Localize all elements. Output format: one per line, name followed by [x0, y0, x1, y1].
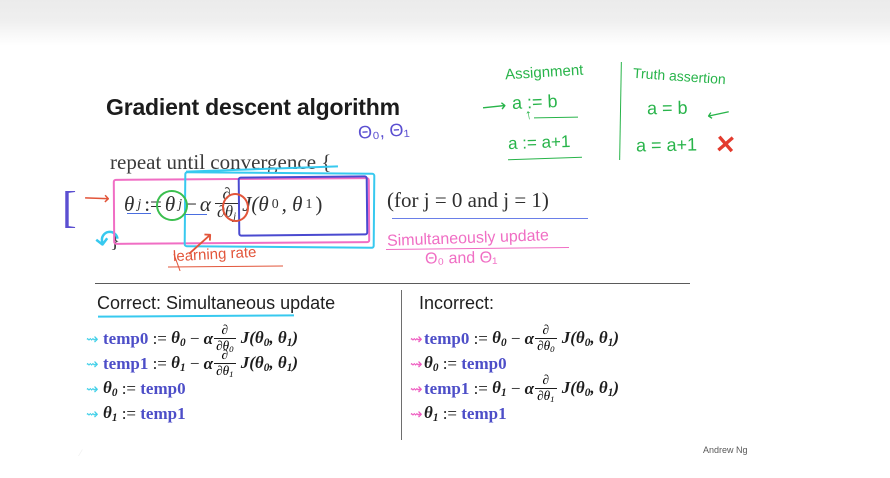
- green-underline-2: [508, 157, 582, 161]
- alpha-term: α: [204, 354, 213, 374]
- assign-operator: :=: [438, 354, 461, 374]
- page-artifact: ⁄: [80, 448, 82, 458]
- red-underline-learning-rate: [168, 265, 283, 267]
- partial-derivative-fraction: ∂∂θ1: [214, 348, 235, 378]
- left-bracket-annotation: [: [62, 182, 77, 233]
- assign-operator: :=: [117, 404, 140, 424]
- annotation-learning-rate: learning rate: [173, 244, 257, 265]
- theta-term: θ0: [171, 328, 185, 349]
- top-gradient-band: [0, 0, 890, 46]
- temp-variable: temp0: [424, 329, 469, 349]
- temp-variable: temp0: [103, 329, 148, 349]
- cost-function: J(θ0, θ1): [558, 328, 619, 349]
- equation-row: temp1 := θ1 − α∂∂θ1 J(θ0, θ1): [424, 376, 619, 401]
- minus-operator: −: [186, 354, 204, 374]
- equation-row: θ1 := temp1: [424, 401, 619, 426]
- partial-numerator: ∂: [220, 323, 231, 336]
- blue-underline-theta-rhs: [185, 214, 207, 215]
- partial-denominator: ∂θ1: [214, 363, 235, 379]
- alpha-term: α: [525, 379, 534, 399]
- cyan-marker-3: ⇝: [86, 380, 99, 398]
- equation-row: θ0 := temp0: [103, 376, 298, 401]
- cyan-marker-2: ⇝: [86, 355, 99, 373]
- magenta-marker-3: ⇝: [410, 380, 423, 398]
- temp-variable: temp1: [461, 404, 506, 424]
- temp-variable: temp0: [140, 379, 185, 399]
- theta-term: θ0: [103, 378, 117, 399]
- annotation-thetas: Θ₀, Θ₁: [357, 119, 410, 144]
- annotation-assignment-example-2: a := a+1: [508, 132, 571, 154]
- vertical-divider: [401, 290, 402, 440]
- page-title: Gradient descent algorithm: [106, 94, 400, 121]
- green-underline-1: [534, 117, 578, 119]
- theta-term: θ1: [424, 403, 438, 424]
- annotation-truth-example-2: a = a+1: [636, 134, 697, 156]
- footer-author: Andrew Ng: [703, 445, 748, 455]
- column-header-correct: Correct: Simultaneous update: [97, 293, 335, 314]
- equation-row: temp0 := θ0 − α∂∂θ0 J(θ0, θ1): [424, 326, 619, 351]
- assign-operator: :=: [469, 329, 492, 349]
- theta-term: θ1: [103, 403, 117, 424]
- column-header-incorrect: Incorrect:: [419, 293, 494, 314]
- alpha-term: α: [204, 329, 213, 349]
- blue-underline-for-j: [392, 218, 588, 219]
- partial-derivative-fraction: ∂∂θ0: [535, 323, 556, 353]
- assign-operator: :=: [117, 379, 140, 399]
- equation-row: temp0 := θ0 − α∂∂θ0 J(θ0, θ1): [103, 326, 298, 351]
- temp-variable: temp0: [461, 354, 506, 374]
- theta-term: θ1: [492, 378, 506, 399]
- partial-numerator: ∂: [541, 323, 552, 336]
- blue-underline-theta-lhs: [127, 213, 151, 214]
- partial-numerator: ∂: [541, 373, 552, 386]
- partial-derivative-fraction: ∂∂θ1: [535, 373, 556, 403]
- correct-update-list: temp0 := θ0 − α∂∂θ0 J(θ0, θ1)temp1 := θ1…: [103, 326, 298, 426]
- partial-denominator: ∂θ1: [535, 388, 556, 404]
- assign-operator: :=: [148, 329, 171, 349]
- red-arrow-icon: ⟶: [84, 188, 111, 210]
- annotation-assignment-title: Assignment: [505, 62, 584, 84]
- theta-term: θ1: [171, 353, 185, 374]
- minus-operator: −: [507, 329, 525, 349]
- cost-function: J(θ0, θ1): [237, 353, 298, 374]
- assign-operator: :=: [469, 379, 492, 399]
- red-cross-icon: ✕: [714, 129, 737, 160]
- cost-function: J(θ0, θ1): [237, 328, 298, 349]
- partial-numerator: ∂: [220, 348, 231, 361]
- temp-variable: temp1: [140, 404, 185, 424]
- temp-variable: temp1: [424, 379, 469, 399]
- magenta-marker-2: ⇝: [410, 355, 423, 373]
- alpha-term: α: [525, 329, 534, 349]
- partial-denominator: ∂θ0: [535, 338, 556, 354]
- horizontal-divider: [95, 283, 690, 284]
- equation-row: θ1 := temp1: [103, 401, 298, 426]
- green-left-arrow-icon: ⟵: [705, 102, 732, 126]
- minus-operator: −: [507, 379, 525, 399]
- annotation-truth-title: Truth assertion: [633, 65, 727, 87]
- cost-function: J(θ0, θ1): [558, 378, 619, 399]
- annotation-truth-example-1: a = b: [647, 98, 688, 120]
- incorrect-update-list: temp0 := θ0 − α∂∂θ0 J(θ0, θ1)θ0 := temp0…: [424, 326, 619, 426]
- minus-operator: −: [186, 329, 204, 349]
- slide-canvas: Gradient descent algorithm Θ₀, Θ₁ repeat…: [0, 0, 890, 478]
- equation-row: θ0 := temp0: [424, 351, 619, 376]
- green-vertical-divider: [619, 62, 622, 160]
- equation-row: temp1 := θ1 − α∂∂θ1 J(θ0, θ1): [103, 351, 298, 376]
- temp-variable: temp1: [103, 354, 148, 374]
- magenta-marker-4: ⇝: [410, 405, 423, 423]
- theta-term: θ0: [424, 353, 438, 374]
- assign-operator: :=: [438, 404, 461, 424]
- green-arrow-icon: ⟶: [481, 96, 507, 118]
- assign-operator: :=: [148, 354, 171, 374]
- theta-term: θ0: [492, 328, 506, 349]
- cyan-underline-correct-header: [98, 314, 294, 317]
- magenta-marker-1: ⇝: [410, 330, 423, 348]
- annotation-simultaneously-thetas: Θ₀ and Θ₁: [425, 249, 498, 268]
- annotation-assignment-example-1: a := b: [512, 91, 558, 114]
- blue-highlight-box: [238, 175, 369, 236]
- cyan-marker-1: ⇝: [86, 330, 99, 348]
- for-j-condition: (for j = 0 and j = 1): [387, 188, 549, 213]
- cyan-marker-4: ⇝: [86, 405, 99, 423]
